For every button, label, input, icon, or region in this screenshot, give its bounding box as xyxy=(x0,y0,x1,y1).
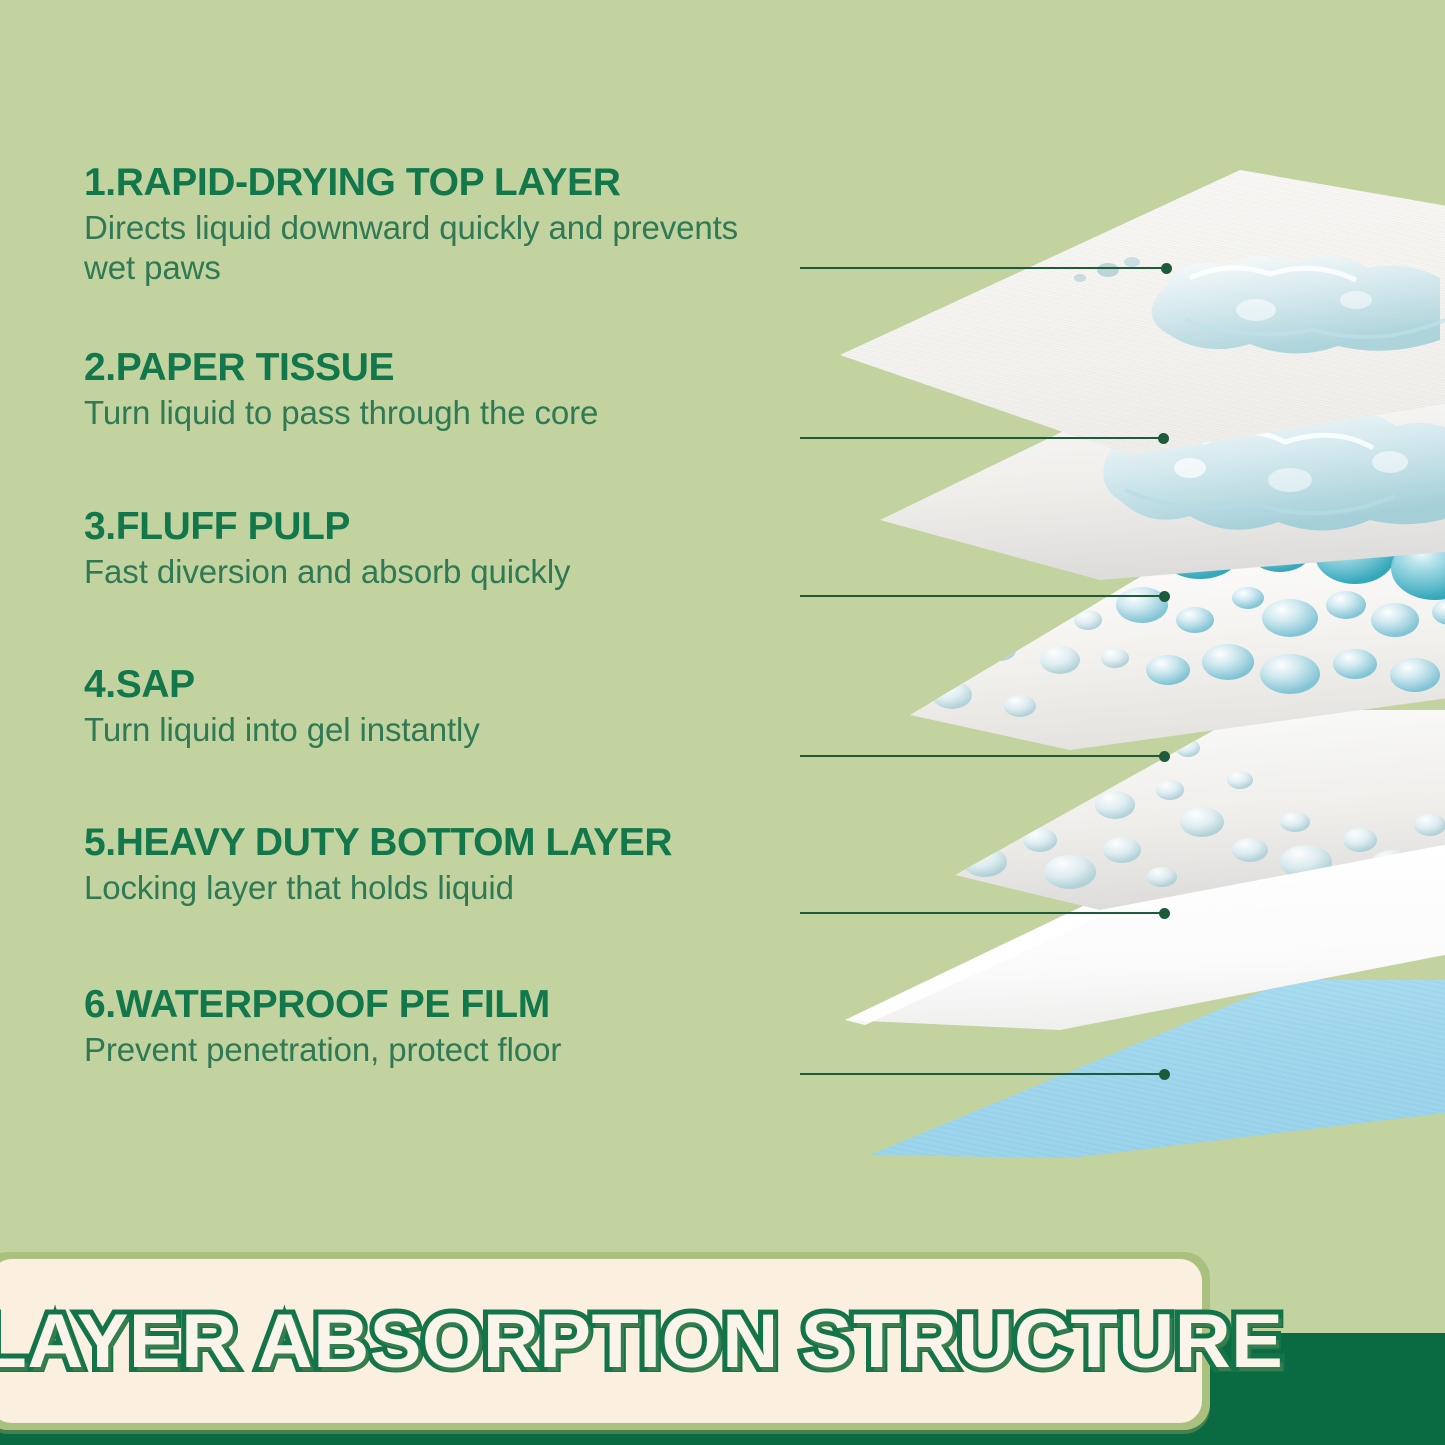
banner-title: 6-LAYER ABSORPTION STRUCTURE xyxy=(0,1298,1283,1385)
layer-entry-5: 5.HEAVY DUTY BOTTOM LAYER Locking layer … xyxy=(84,823,784,908)
layer-entry-1: 1.RAPID-DRYING TOP LAYER Directs liquid … xyxy=(84,163,784,288)
banner-card-outer: 6-LAYER ABSORPTION STRUCTURE xyxy=(0,1252,1210,1430)
layer-2-description: Turn liquid to pass through the core xyxy=(84,393,759,433)
layer-3-title: 3.FLUFF PULP xyxy=(84,507,784,548)
layer-descriptions-column: 1.RAPID-DRYING TOP LAYER Directs liquid … xyxy=(0,0,800,1180)
layer-entry-3: 3.FLUFF PULP Fast diversion and absorb q… xyxy=(84,507,784,592)
infographic-page: 1.RAPID-DRYING TOP LAYER Directs liquid … xyxy=(0,0,1445,1445)
layer-6-title: 6.WATERPROOF PE FILM xyxy=(84,985,784,1026)
layered-pad-illustration xyxy=(770,150,1445,1160)
layer-5-title: 5.HEAVY DUTY BOTTOM LAYER xyxy=(84,823,784,864)
rapid-drying-top-layer-sheet xyxy=(840,170,1445,455)
exploded-layer-stack xyxy=(770,150,1445,1160)
banner-card-inner: 6-LAYER ABSORPTION STRUCTURE xyxy=(0,1259,1202,1423)
layer-1-description: Directs liquid downward quickly and prev… xyxy=(84,208,759,289)
layer-entry-2: 2.PAPER TISSUE Turn liquid to pass throu… xyxy=(84,348,784,433)
layer-2-title: 2.PAPER TISSUE xyxy=(84,348,784,389)
layer-entry-6: 6.WATERPROOF PE FILM Prevent penetration… xyxy=(84,985,784,1070)
layer-entry-4: 4.SAP Turn liquid into gel instantly xyxy=(84,665,784,750)
layer-6-description: Prevent penetration, protect floor xyxy=(84,1030,759,1070)
layer-4-title: 4.SAP xyxy=(84,665,784,706)
layer-1-title: 1.RAPID-DRYING TOP LAYER xyxy=(84,163,784,204)
layer-3-description: Fast diversion and absorb quickly xyxy=(84,552,759,592)
layer-5-description: Locking layer that holds liquid xyxy=(84,868,759,908)
layer-4-description: Turn liquid into gel instantly xyxy=(84,710,759,750)
